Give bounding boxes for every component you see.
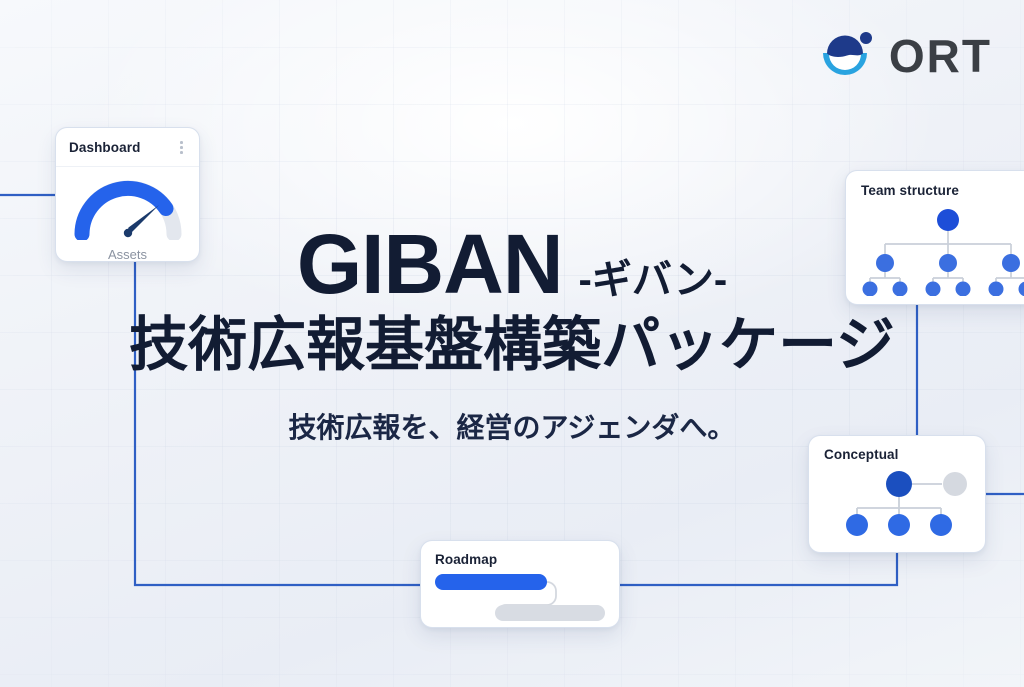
connector-conceptual-to-roadmap — [620, 553, 897, 585]
card-dashboard-body: Assets — [56, 167, 199, 262]
card-conceptual-title: Conceptual — [824, 447, 985, 462]
gauge-label: Assets — [56, 247, 199, 262]
roadmap-gantt-chart — [435, 572, 610, 624]
card-roadmap[interactable]: Roadmap — [420, 540, 620, 628]
card-team-title: Team structure — [861, 183, 1024, 198]
card-team-structure[interactable]: Team structure — [845, 170, 1024, 305]
gauge-chart — [70, 178, 186, 240]
phase-1-bar — [435, 574, 547, 590]
card-roadmap-body: Roadmap — [421, 541, 619, 628]
hero-banner: ORT GIBAN -ギバン- 技術広報基盤構築パッケージ 技術広報を、経営のア… — [0, 0, 1024, 687]
card-team-body: Team structure — [846, 171, 1024, 301]
ort-wordmark: ORT — [889, 33, 992, 79]
conceptual-diagram — [824, 466, 974, 544]
card-dashboard-header: Dashboard — [56, 128, 199, 167]
org-chart-diagram — [861, 204, 1024, 296]
card-conceptual-body: Conceptual — [809, 436, 985, 549]
card-roadmap-title: Roadmap — [435, 552, 619, 567]
card-conceptual[interactable]: Conceptual — [808, 435, 986, 553]
ort-logo: ORT — [819, 28, 992, 84]
kebab-menu-icon[interactable] — [176, 139, 187, 156]
page-title: GIBAN — [297, 222, 563, 308]
card-dashboard-title: Dashboard — [69, 140, 140, 155]
ort-circle-logo-icon — [819, 28, 875, 84]
card-dashboard[interactable]: Dashboard Assets — [55, 127, 200, 262]
phase-3-bar — [495, 605, 605, 621]
page-subtitle: 技術広報基盤構築パッケージ — [0, 312, 1024, 378]
page-title-kana: -ギバン- — [579, 247, 728, 305]
